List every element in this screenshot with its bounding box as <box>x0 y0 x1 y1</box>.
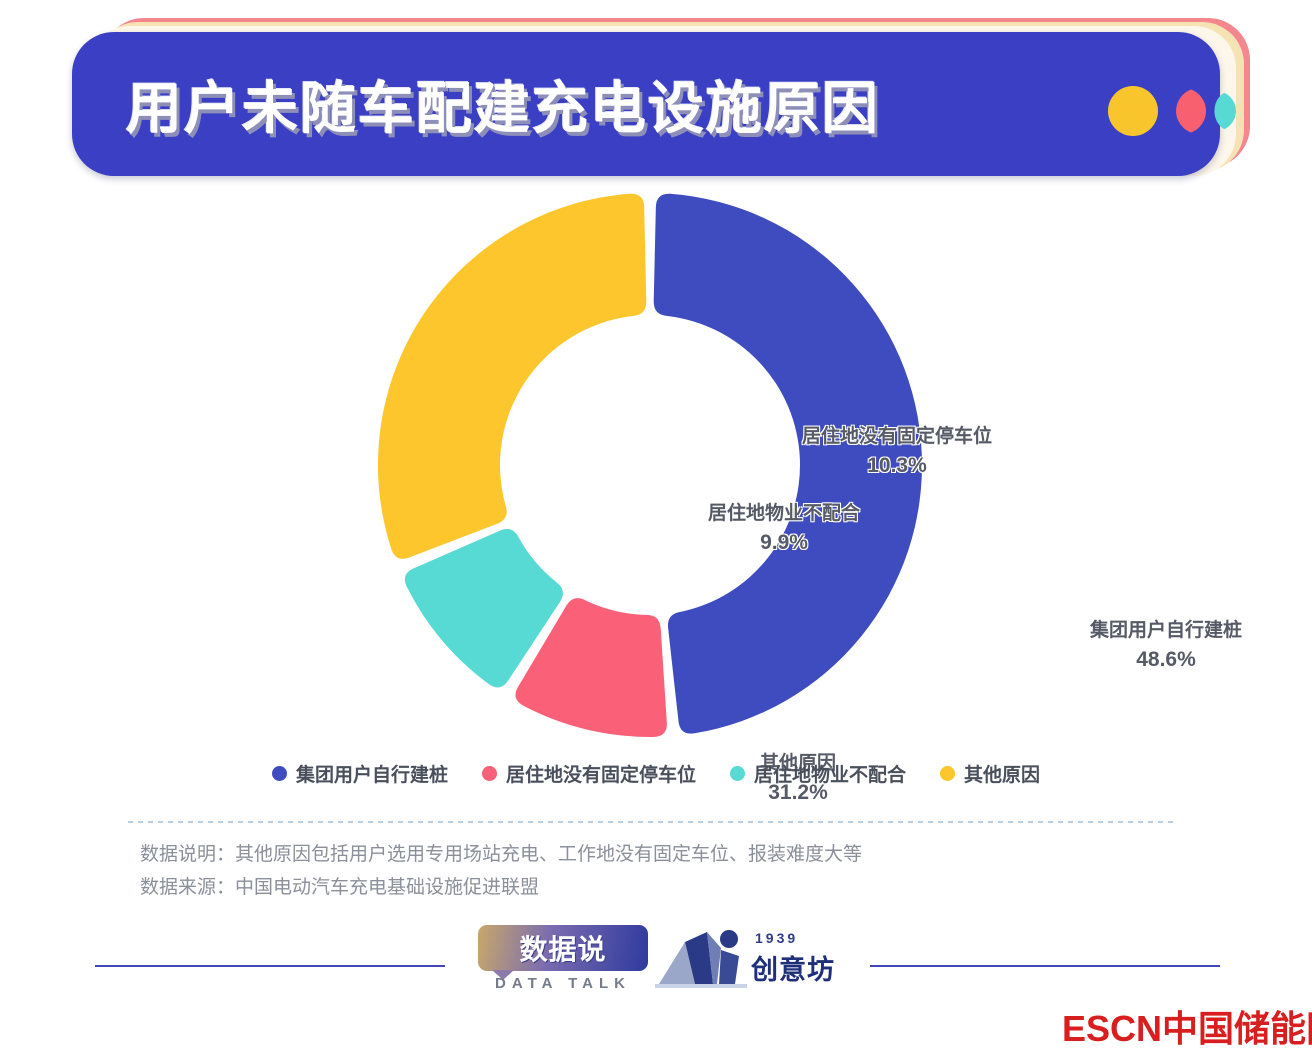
legend-item[interactable]: 居住地物业不配合 <box>730 760 906 787</box>
circle-dot-icon <box>1108 86 1158 136</box>
footer-rule-left <box>95 965 445 967</box>
logo-chuangyifang-artwork <box>655 926 747 988</box>
legend-color-dot-icon <box>272 766 287 781</box>
slice-label-pink: 居住地没有固定停车位 10.3% <box>802 423 992 481</box>
banner-decoration <box>1108 86 1228 138</box>
slice-label-blue: 集团用户自行建桩 48.6% <box>1090 617 1242 675</box>
legend-label: 居住地没有固定停车位 <box>506 760 696 787</box>
logo-chuangyifang-year: 1939 <box>755 930 798 946</box>
slice-label-blue-name: 集团用户自行建桩 <box>1090 620 1242 641</box>
legend-color-dot-icon <box>940 766 955 781</box>
legend-item[interactable]: 居住地没有固定停车位 <box>482 760 696 787</box>
donut-slice[interactable] <box>378 194 646 559</box>
slice-label-pink-name: 居住地没有固定停车位 <box>802 426 992 447</box>
slice-label-pink-value: 10.3% <box>802 451 992 481</box>
legend-item[interactable]: 其他原因 <box>940 760 1040 787</box>
chart-legend: 集团用户自行建桩居住地没有固定停车位居住地物业不配合其他原因 <box>0 760 1312 787</box>
legend-item[interactable]: 集团用户自行建桩 <box>272 760 448 787</box>
slice-label-teal: 居住地物业不配合 9.9% <box>708 500 860 558</box>
slice-label-blue-value: 48.6% <box>1090 645 1242 675</box>
note-description: 数据说明：其他原因包括用户选用专用场站充电、工作地没有固定车位、报装难度大等 <box>140 838 1200 871</box>
watermark-escn: ESCN中国储能网 <box>1062 1000 1312 1052</box>
legend-label: 集团用户自行建桩 <box>296 760 448 787</box>
slice-label-teal-name: 居住地物业不配合 <box>708 503 860 524</box>
donut-chart: 集团用户自行建桩 48.6% 居住地没有固定停车位 10.3% 居住地物业不配合… <box>330 185 970 745</box>
logo-data-talk-badge: 数据说 <box>478 925 648 971</box>
logo-chuangyifang: 1939 创意坊 <box>655 922 845 992</box>
logo-data-talk-en: DATA TALK <box>478 975 648 992</box>
section-divider <box>128 821 1178 823</box>
logo-data-talk: 数据说 DATA TALK <box>478 925 648 993</box>
logo-data-talk-cn: 数据说 <box>519 928 606 968</box>
page-title: 用户未随车配建充电设施原因 <box>126 64 880 145</box>
footnotes: 数据说明：其他原因包括用户选用专用场站充电、工作地没有固定车位、报装难度大等 数… <box>140 838 1200 905</box>
crescent-pink-icon <box>1160 88 1206 134</box>
legend-color-dot-icon <box>482 766 497 781</box>
footer-rule-right <box>870 965 1220 967</box>
legend-color-dot-icon <box>730 766 745 781</box>
slice-label-teal-value: 9.9% <box>708 528 860 558</box>
logo-chuangyifang-name: 创意坊 <box>751 948 835 987</box>
note-source: 数据来源：中国电动汽车充电基础设施促进联盟 <box>140 871 1200 904</box>
legend-label: 居住地物业不配合 <box>754 760 906 787</box>
title-banner: 用户未随车配建充电设施原因 <box>72 18 1224 176</box>
legend-label: 其他原因 <box>964 760 1040 787</box>
